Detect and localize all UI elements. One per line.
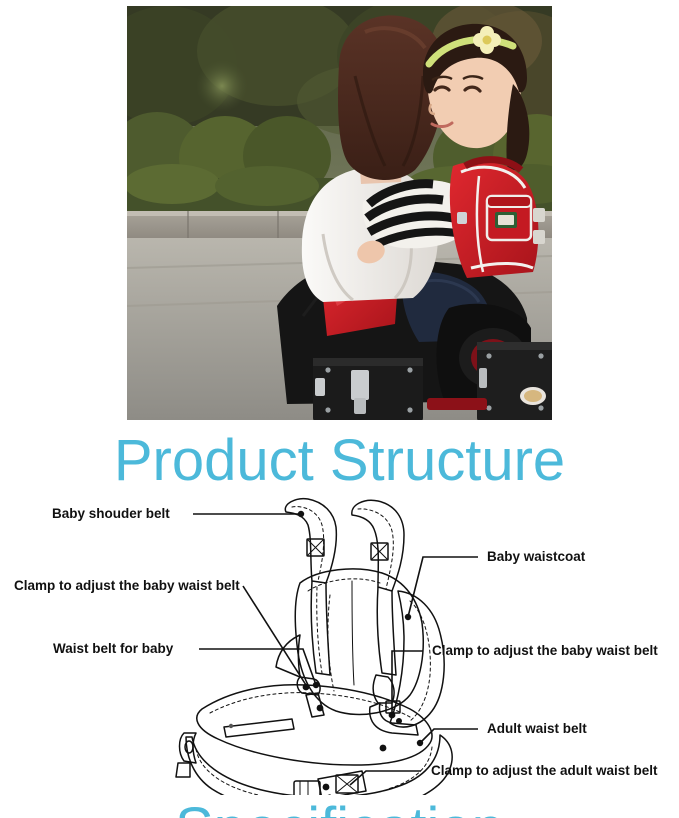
lifestyle-photo (127, 6, 552, 420)
product-detail-page: Product Structure (0, 0, 679, 818)
structure-diagram: Baby shouder belt Clamp to adjust the ba… (0, 495, 679, 795)
label-clamp-adjust-baby-waist-belt-right: Clamp to adjust the baby waist belt (432, 643, 658, 659)
specification-heading-clipped: Specification (0, 798, 679, 818)
label-baby-waistcoat: Baby waistcoat (487, 549, 585, 565)
label-clamp-adjust-baby-waist-belt-left: Clamp to adjust the baby waist belt (14, 578, 240, 594)
product-structure-heading: Product Structure (0, 430, 679, 492)
label-waist-belt-for-baby: Waist belt for baby (53, 641, 173, 657)
label-adult-waist-belt: Adult waist belt (487, 721, 587, 737)
label-baby-shoulder-belt: Baby shouder belt (52, 506, 170, 522)
label-clamp-adjust-adult-waist-belt: Clamp to adjust the adult waist belt (431, 763, 658, 779)
